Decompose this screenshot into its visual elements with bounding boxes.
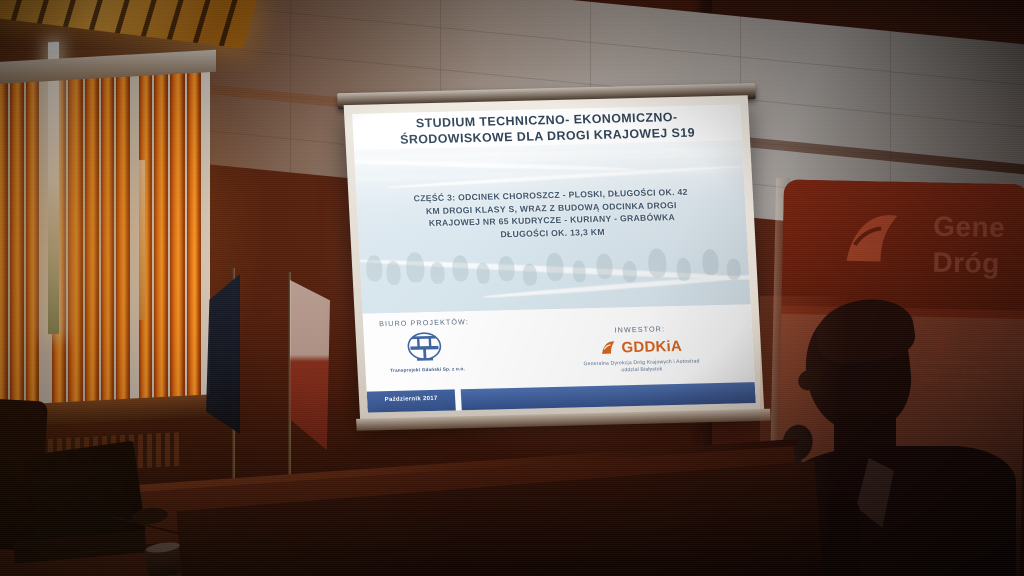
gddkia-arrow-icon — [599, 339, 617, 356]
polish-flag — [288, 272, 293, 494]
slide-body: CZĘŚĆ 3: ODCINEK CHOROSZCZ - PLOSKI, DŁU… — [370, 185, 733, 244]
projection-screen: STUDIUM TECHNICZNO- EKONOMICZNO- ŚRODOWI… — [344, 95, 765, 422]
gddkia-eagle-icon — [840, 209, 901, 270]
dark-flag — [232, 268, 238, 496]
design-office-name: Transprojekt Gdański Sp. z o.o. — [371, 366, 483, 374]
presentation-slide: STUDIUM TECHNICZNO- EKONOMICZNO- ŚRODOWI… — [352, 104, 756, 412]
gddkia-wordmark: GDDKiA — [621, 338, 682, 356]
conference-room-photo: STUDIUM TECHNICZNO- EKONOMICZNO- ŚRODOWI… — [0, 0, 1024, 576]
investor-label: INWESTOR: — [560, 323, 720, 336]
vertical-blinds — [0, 58, 214, 422]
transprojekt-logo-icon — [404, 330, 446, 365]
design-office-label: BIURO PROJEKTÓW: — [379, 317, 469, 328]
slide-footer-panel: BIURO PROJEKTÓW: Transprojekt Gdański Sp… — [363, 304, 756, 412]
window-light-gap-secondary — [139, 160, 145, 320]
gddkia-logo: GDDKiA — [560, 337, 721, 358]
investor-subtitle: Generalna Dyrekcja Dróg Krajowych i Auto… — [541, 357, 742, 377]
rollup-headline-line-1: Gene — [933, 211, 1006, 245]
rollup-headline-line-2: Dróg — [932, 247, 1000, 280]
rollup-banner-header — [782, 179, 1024, 310]
window-light-gap — [48, 42, 59, 335]
